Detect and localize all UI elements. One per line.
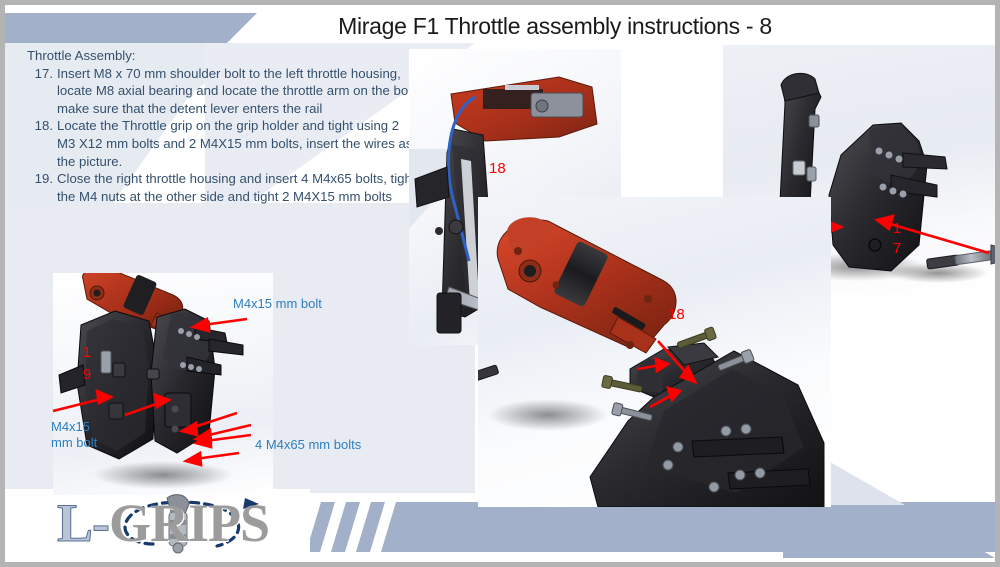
step-label-17-digit-7: 7 [891, 241, 903, 256]
list-item: 19. Close the right throttle housing and… [27, 170, 419, 205]
step-label-17-digit-1: 1 [891, 221, 903, 236]
step-label-19-digit-9: 9 [81, 367, 93, 382]
logo-text-prefix: L- [57, 493, 109, 553]
page-title: Mirage F1 Throttle assembly instructions… [255, 13, 855, 40]
instructions-heading: Throttle Assembly: [27, 47, 419, 65]
list-item-text: Close the right throttle housing and ins… [57, 171, 415, 204]
logo-text: L-GRIPS [57, 492, 269, 554]
step-label-18-top: 18 [489, 161, 506, 176]
list-item-number: 19. [27, 170, 53, 188]
logo-text-suffix: GRIPS [109, 493, 269, 553]
instructions-list: 17. Insert M8 x 70 mm shoulder bolt to t… [27, 65, 419, 206]
callout-m4x15-top: M4x15 mm bolt [233, 296, 322, 312]
list-item-text: Locate the Throttle grip on the grip hol… [57, 118, 412, 168]
list-item: 18. Locate the Throttle grip on the grip… [27, 117, 419, 170]
presentation-slide: Mirage F1 Throttle assembly instructions… [0, 0, 1000, 567]
step-label-19-digit-1: 1 [81, 345, 93, 360]
footer-base [5, 558, 1000, 567]
instructions-block: Throttle Assembly: 17. Insert M8 x 70 mm… [27, 47, 419, 205]
slide-canvas: Mirage F1 Throttle assembly instructions… [5, 5, 1000, 567]
list-item-number: 17. [27, 65, 53, 83]
brand-logo: L-GRIPS [57, 492, 307, 554]
panel-grip-mounting-view: 18 [478, 197, 831, 507]
throttle-grip [497, 217, 676, 353]
list-item-number: 18. [27, 117, 53, 135]
step-label-18-center: 18 [668, 307, 685, 322]
callout-m4x15-left: M4x15 mm bolt [51, 419, 99, 451]
list-item-text: Insert M8 x 70 mm shoulder bolt to the l… [57, 66, 418, 116]
callout-m4x65: 4 M4x65 mm bolts [255, 437, 361, 453]
list-item: 17. Insert M8 x 70 mm shoulder bolt to t… [27, 65, 419, 118]
grip-mounting-drawing [478, 197, 831, 507]
